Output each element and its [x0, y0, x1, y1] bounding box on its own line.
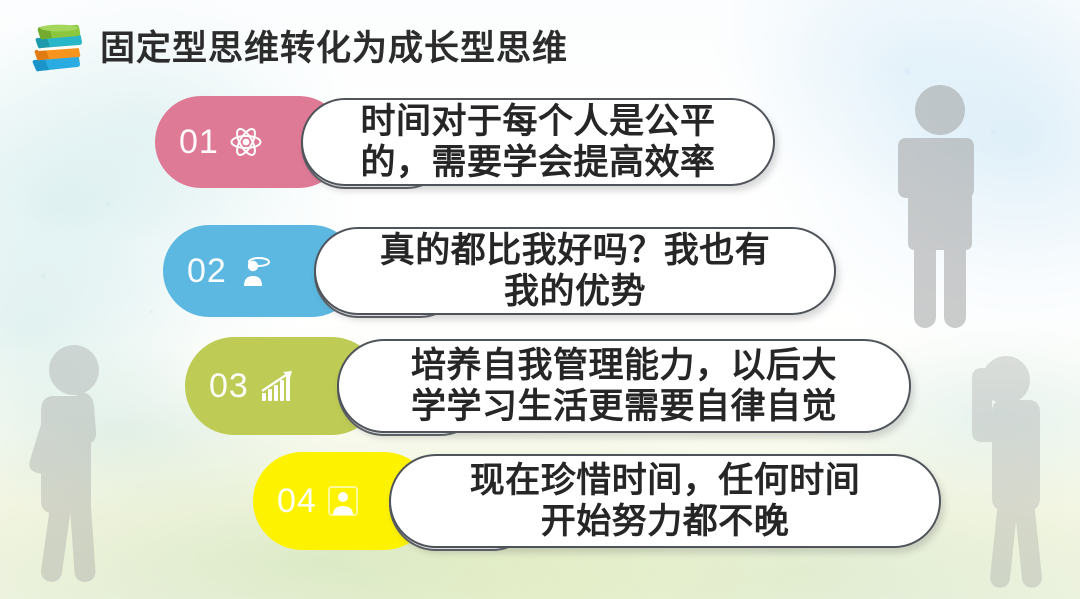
list-item-02[interactable]: 02 真的都比我好吗？我也有 我的优势 [163, 225, 836, 317]
growth-chart-icon [259, 368, 295, 404]
stacked-books-icon [26, 22, 88, 74]
pill-group-03: 培养自我管理能力，以后大 学学习生活更需要自律自觉 [337, 339, 911, 433]
list-item-text-04: 现在珍惜时间，任何时间 开始努力都不晚 [448, 454, 883, 549]
thinking-person-walking-icon [12, 340, 124, 590]
user-profile-icon [327, 485, 359, 517]
pill-group-04: 现在珍惜时间，任何时间 开始努力都不晚 [389, 454, 941, 548]
pill-02[interactable]: 真的都比我好吗？我也有 我的优势 [314, 227, 836, 315]
pill-group-02: 真的都比我好吗？我也有 我的优势 [314, 227, 836, 315]
list-item-text-02: 真的都比我好吗？我也有 我的优势 [358, 224, 793, 319]
leaning-person-icon [952, 352, 1070, 599]
list-item-04[interactable]: 04 现在珍惜时间，任何时间 开始努力都不晚 [253, 452, 941, 550]
slide-canvas: 固定型思维转化为成长型思维 01 时间对于每个人是公平 的，需要学会提高效率 [0, 0, 1080, 599]
person-idea-icon [237, 253, 273, 289]
pill-group-01: 时间对于每个人是公平 的，需要学会提高效率 [301, 98, 775, 186]
badge-number-03: 03 [209, 369, 249, 403]
badge-number-02: 02 [187, 254, 227, 288]
thinking-person-standing-icon [880, 78, 1000, 338]
list-item-01[interactable]: 01 时间对于每个人是公平 的，需要学会提高效率 [155, 96, 775, 188]
pill-03[interactable]: 培养自我管理能力，以后大 学学习生活更需要自律自觉 [337, 339, 911, 433]
header: 固定型思维转化为成长型思维 [26, 22, 568, 74]
list-item-text-01: 时间对于每个人是公平 的，需要学会提高效率 [338, 95, 737, 190]
pill-01[interactable]: 时间对于每个人是公平 的，需要学会提高效率 [301, 98, 775, 186]
badge-number-04: 04 [277, 484, 317, 518]
atom-icon [229, 125, 263, 159]
list-item-text-03: 培养自我管理能力，以后大 学学习生活更需要自律自觉 [389, 339, 859, 434]
list-item-03[interactable]: 03 培养自我管理能力，以后大 学学习生活更需要自律自 [185, 337, 911, 435]
badge-number-01: 01 [179, 125, 219, 159]
page-title: 固定型思维转化为成长型思维 [100, 31, 568, 66]
pill-04[interactable]: 现在珍惜时间，任何时间 开始努力都不晚 [389, 454, 941, 548]
